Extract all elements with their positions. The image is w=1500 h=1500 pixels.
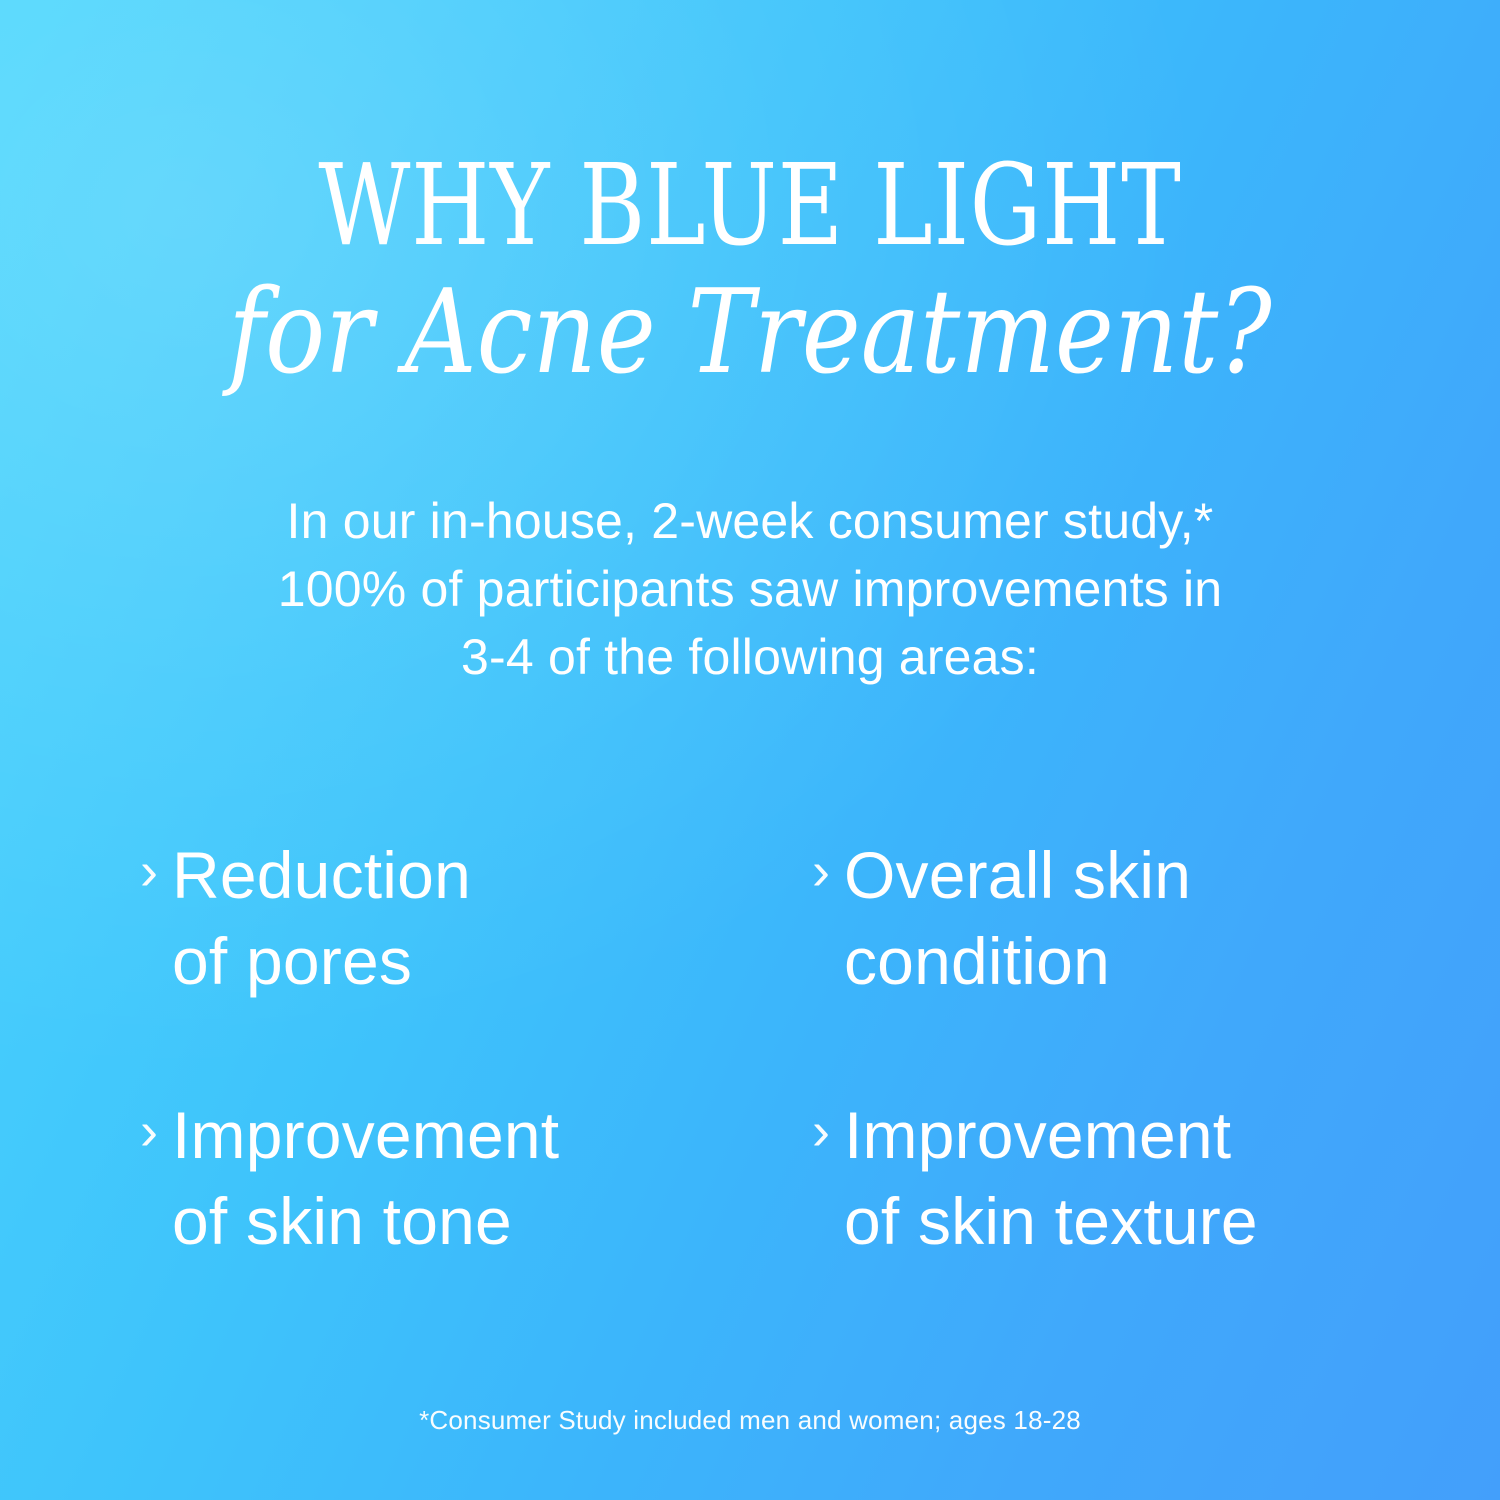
benefit-item-reduction-of-pores: › Reduction of pores xyxy=(140,832,812,1004)
benefit-label: Improvement of skin texture xyxy=(844,1092,1258,1264)
benefit-label: Reduction of pores xyxy=(172,832,471,1004)
headline: WHY BLUE LIGHT for Acne Treatment? xyxy=(0,148,1500,396)
headline-line-1: WHY BLUE LIGHT xyxy=(150,148,1350,264)
benefit-item-improvement-of-skin-texture: › Improvement of skin texture xyxy=(812,1092,1380,1264)
benefit-label: Improvement of skin tone xyxy=(172,1092,559,1264)
benefit-item-overall-skin-condition: › Overall skin condition xyxy=(812,832,1380,1004)
intro-line-3: 3-4 of the following areas: xyxy=(160,623,1340,691)
benefit-item-improvement-of-skin-tone: › Improvement of skin tone xyxy=(140,1092,812,1264)
promotional-graphic: WHY BLUE LIGHT for Acne Treatment? In ou… xyxy=(0,0,1500,1500)
benefits-grid: › Reduction of pores › Overall skin cond… xyxy=(140,832,1380,1264)
benefit-label: Overall skin condition xyxy=(844,832,1191,1004)
chevron-right-icon: › xyxy=(140,1092,158,1170)
chevron-right-icon: › xyxy=(140,832,158,910)
poster-content: WHY BLUE LIGHT for Acne Treatment? In ou… xyxy=(0,0,1500,1500)
chevron-right-icon: › xyxy=(812,832,830,910)
footnote: *Consumer Study included men and women; … xyxy=(0,1405,1500,1436)
intro-paragraph: In our in-house, 2-week consumer study,*… xyxy=(160,487,1340,691)
chevron-right-icon: › xyxy=(812,1092,830,1170)
headline-line-2: for Acne Treatment? xyxy=(105,270,1395,395)
intro-line-1: In our in-house, 2-week consumer study,* xyxy=(160,487,1340,555)
intro-line-2: 100% of participants saw improvements in xyxy=(160,555,1340,623)
